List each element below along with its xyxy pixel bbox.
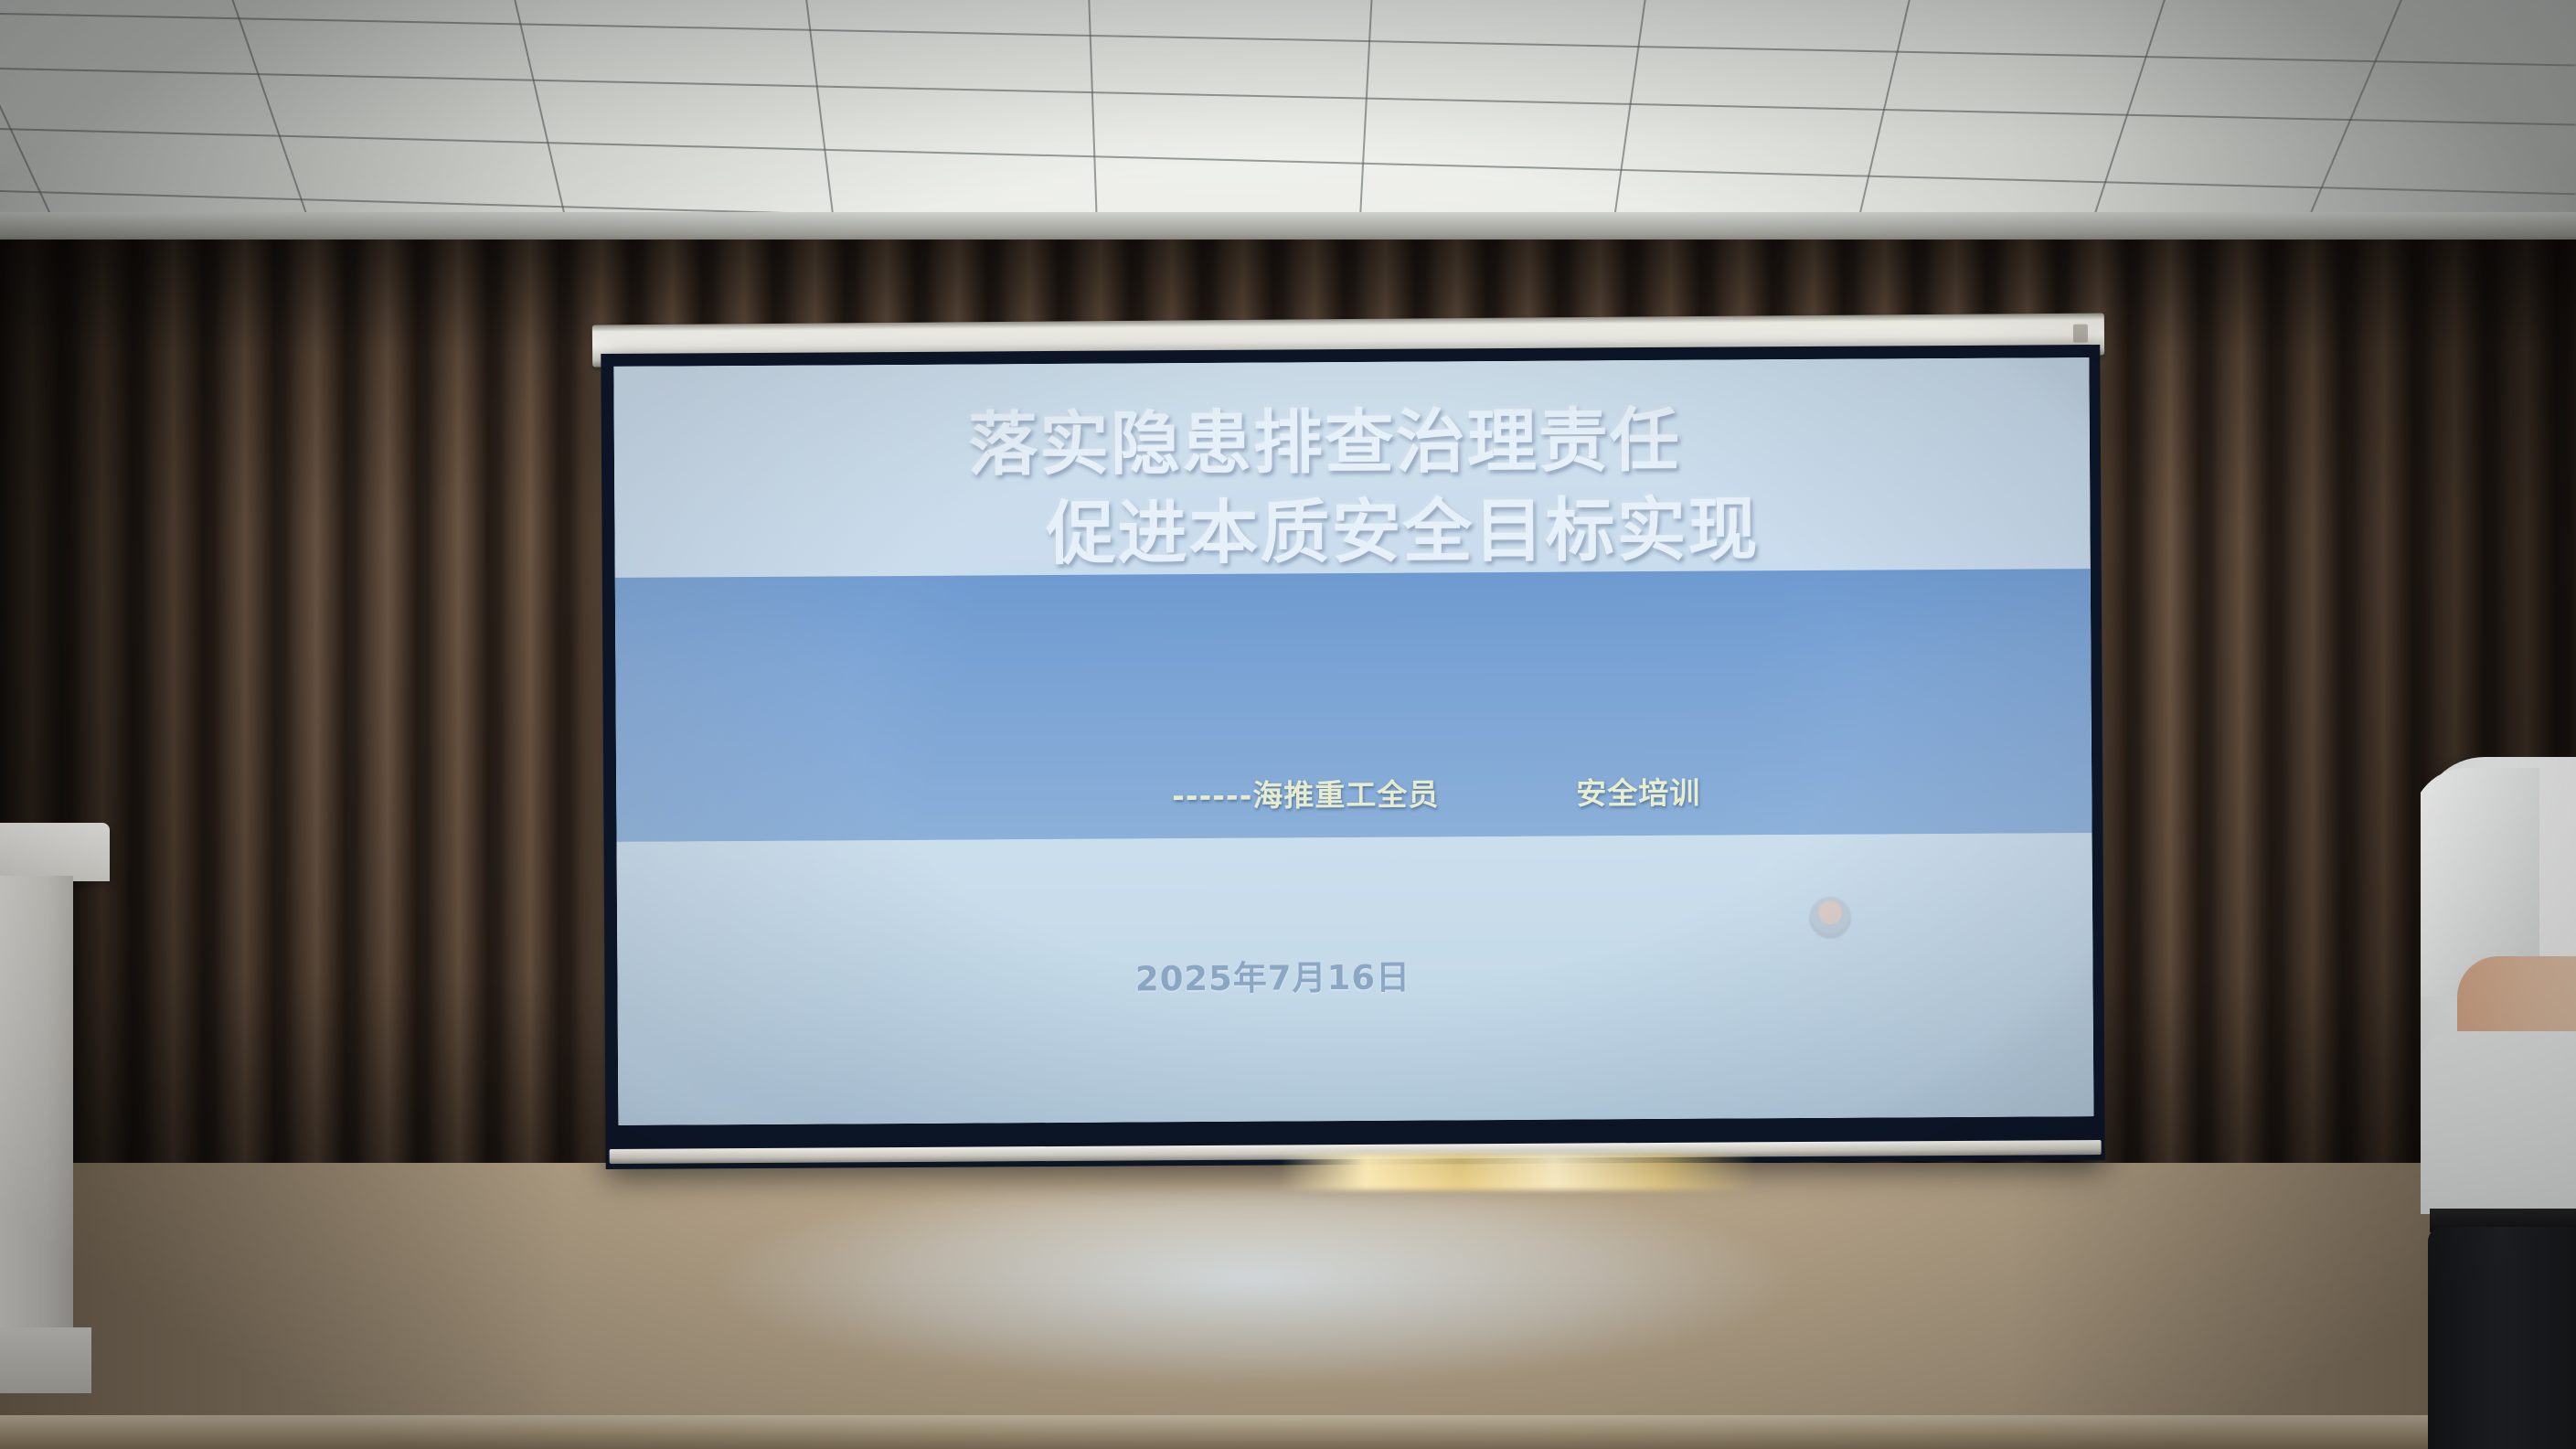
slide-title-line-1: 落实隐患排查治理责任: [614, 403, 2090, 482]
ceiling-right-shadow: [2101, 0, 2576, 230]
slide-title-line-2: 促进本质安全目标实现: [614, 493, 2090, 571]
lectern-base: [0, 1327, 91, 1393]
presentation-slide: 落实隐患排查治理责任 促进本质安全目标实现 ------海推重工全员 安全培训 …: [613, 357, 2093, 1125]
suspended-ceiling: [0, 0, 2576, 230]
floor-front-edge: [0, 1415, 2576, 1449]
projection-screen[interactable]: 落实隐患排查治理责任 促进本质安全目标实现 ------海推重工全员 安全培训 …: [601, 345, 2104, 1169]
slide-subtitle-left: ------海推重工全员: [1172, 770, 1439, 815]
lectern-column: [0, 876, 73, 1344]
person-torso: [2421, 1031, 2576, 1214]
standing-person: [2421, 757, 2576, 1449]
slide-subtitle-right: 安全培训: [1576, 768, 1700, 813]
lectern-top: [0, 823, 110, 881]
person-trousers: [2428, 1227, 2576, 1449]
subtitle-spacer: [1439, 791, 1576, 792]
projector-light-spill: [640, 1188, 1865, 1417]
slide-date: 2025年7月16日: [617, 945, 2092, 1004]
slide-subtitle-row: ------海推重工全员 安全培训: [616, 766, 2092, 819]
presenter-avatar-icon: [1809, 896, 1851, 938]
housing-endcap: [2073, 325, 2088, 343]
lectern[interactable]: [0, 823, 110, 1408]
floor-glare-reflection: [1280, 1154, 1755, 1190]
conference-room-photo: 落实隐患排查治理责任 促进本质安全目标实现 ------海推重工全员 安全培训 …: [0, 0, 2576, 1449]
screen-surface: 落实隐患排查治理责任 促进本质安全目标实现 ------海推重工全员 安全培训 …: [613, 357, 2093, 1125]
